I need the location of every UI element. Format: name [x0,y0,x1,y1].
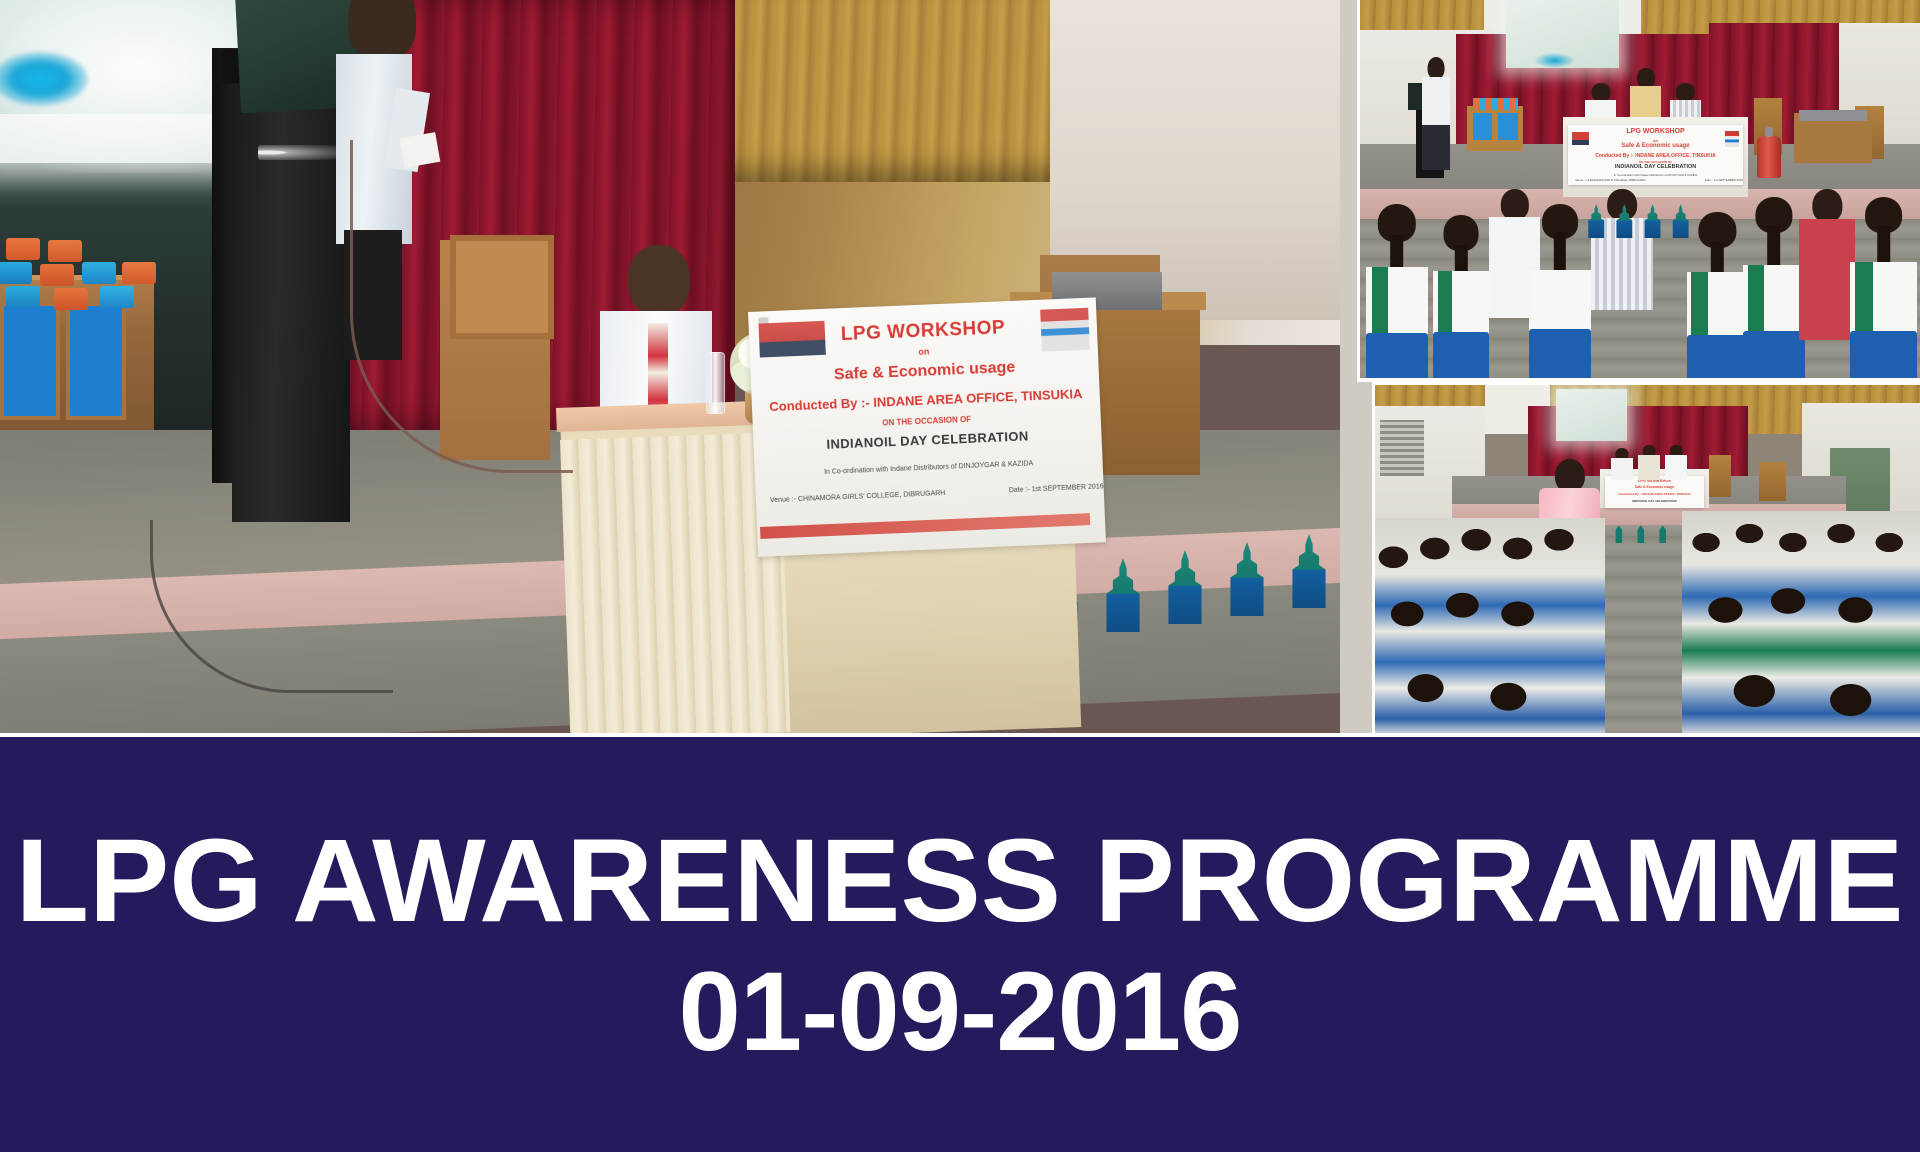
demo-kit-item [6,286,40,308]
demo-kit-item [40,264,74,286]
person-head [628,245,690,317]
window [1380,420,1424,476]
wooden-chair [1759,462,1786,501]
person-head [1428,57,1445,80]
banner-title: LPG WORKSHOP [1568,128,1743,135]
podium-brand-plate [258,145,338,160]
lpg-workshop-banner: LPG WORKSHOP Safe & Economic usage Condu… [1605,476,1704,508]
seated-dignitary [1665,445,1687,480]
display-table-panel [0,302,60,420]
stage-presentation-photo: LPG WORKSHOP on Safe & Economic usage Co… [0,0,1360,733]
demo-kit-item [122,262,156,284]
indane-logo [1572,132,1589,145]
student-audience [1850,197,1918,378]
uniform-sash [1855,262,1873,331]
student-audience [1433,215,1489,378]
uniform-top [1529,270,1591,336]
seated-dignitary [1638,445,1660,480]
banner-coordination: In Co-ordination with Indane Distributor… [755,457,1103,479]
student-audience [1529,204,1591,378]
display-table-panel [66,302,126,420]
banner-conducted-by: Conducted By :- INDANE AREA OFFICE, TINS… [752,385,1100,415]
banner-conducted-by: Conducted By :- INDANE AREA OFFICE, TINS… [1568,153,1743,159]
lpg-cylinder [1757,136,1781,178]
person-head [1813,189,1842,222]
demo-kit-item [0,262,32,284]
lpg-workshop-banner: LPG WORKSHOP on Safe & Economic usage Co… [1568,125,1743,185]
uniform-sash [1748,265,1764,330]
photo-collage: LPG WORKSHOP on Safe & Economic usage Co… [0,0,1920,733]
display-table-panel [1498,113,1518,139]
person-head [1676,83,1695,101]
seated-dignitary [1611,448,1633,480]
banner-subject: Safe & Economic usage [1605,485,1704,489]
chair-seat [1529,329,1591,378]
chair-seat [1687,335,1749,378]
person-head [1591,83,1610,101]
person-head [1501,189,1529,220]
audio-amplifier [1799,110,1867,121]
person-head [348,0,416,60]
student-audience [1687,212,1749,378]
chair-seat [1850,331,1918,378]
projector-screen [1556,389,1627,442]
wooden-chair [1709,455,1731,497]
demo-kit-item [48,240,82,262]
projector-slide-logo [1535,53,1574,68]
person-shirt [1422,77,1450,127]
banner-coordination: In Co-ordination with Indane Distributor… [1568,173,1743,177]
uniform-sash [1372,267,1388,333]
banner-occasion: INDIANOIL DAY CELEBRATION [1568,164,1743,170]
demo-kit-item [1473,98,1518,109]
banner-date: Date :- 1st SEPTEMBER 2016 [1568,178,1743,182]
person-shirt [1638,455,1660,480]
banner-conducted-by: Conducted By :- INDANE AREA OFFICE, TINS… [1605,492,1704,496]
person-legs [1422,125,1450,170]
chair-seat [1433,332,1489,378]
page-title: LPG AWARENESS PROGRAMME [16,822,1904,940]
hall-scene: LPG WORKSHOP Safe & Economic usage Condu… [1375,385,1920,733]
title-bar: LPG AWARENESS PROGRAMME 01-09-2016 [0,737,1920,1152]
presenter [1422,57,1450,170]
audience-block-left [1375,518,1605,733]
water-bottle [706,352,725,414]
demo-kit-item [82,262,116,284]
banner-occasion: INDIANOIL DAY CELEBRATION [1605,499,1704,503]
hall-scene: LPG WORKSHOP on Safe & Economic usage Co… [1360,0,1920,378]
chair-seat [1743,331,1805,378]
uniform-sash [1691,272,1707,335]
demo-kit-item [100,286,134,308]
person-shirt [1799,219,1855,340]
indianoil-logo [1725,131,1739,147]
poster-root: LPG WORKSHOP on Safe & Economic usage Co… [0,0,1920,1152]
person-shirt [1665,455,1687,480]
uniform-sash [1438,271,1453,333]
demo-kit-item [54,288,88,310]
person-shirt [1611,458,1633,479]
student-audience [1366,204,1428,378]
audience-member [1799,189,1855,340]
audience-stage-wide-photo: LPG WORKSHOP on Safe & Economic usage Co… [1357,0,1920,378]
event-date: 01-09-2016 [679,956,1242,1068]
student-audience [1743,197,1805,378]
banner-subject: Safe & Economic usage [1568,143,1743,149]
demo-kit-item [6,238,40,260]
display-table-panel [1473,113,1493,139]
audience-hall-photo: LPG WORKSHOP Safe & Economic usage Condu… [1372,382,1920,733]
banner-date: Date :- 1st SEPTEMBER 2016 [756,482,1106,504]
audience-block-right [1682,511,1920,733]
audience-member [1591,189,1653,310]
chair-seat [1366,333,1428,378]
person-head [1637,68,1655,88]
